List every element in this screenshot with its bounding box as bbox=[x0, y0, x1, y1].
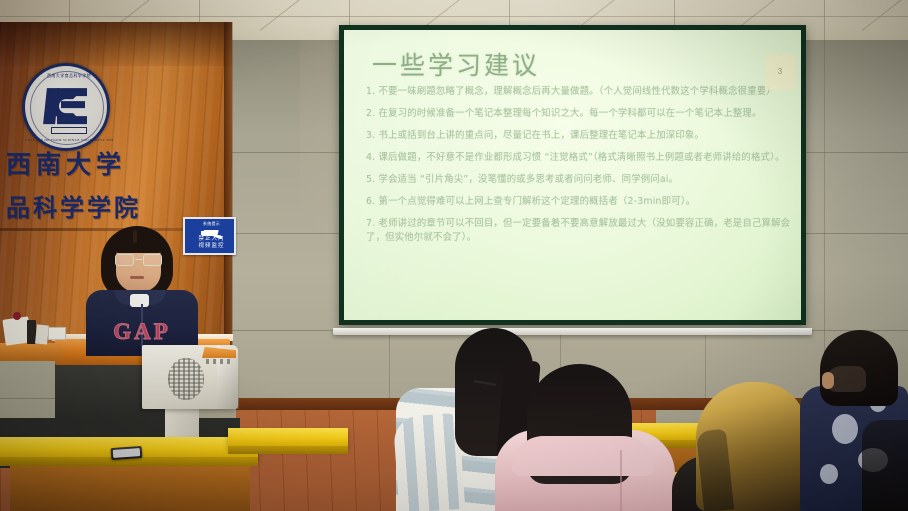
lectern-buttons[interactable] bbox=[206, 359, 232, 364]
hoodie-seam bbox=[620, 450, 622, 511]
student-ear bbox=[822, 372, 834, 389]
slide-page-marker: 3 bbox=[765, 54, 795, 90]
shoulder-shadow bbox=[862, 420, 908, 511]
presenter-mouth bbox=[130, 276, 144, 279]
pink-hood bbox=[512, 436, 654, 476]
side-item-flower bbox=[13, 312, 21, 320]
slide-body: 1. 不要一味刷题忽略了概念，理解概念后再大量做题。（个人觉间线性代数这个学科概… bbox=[366, 85, 794, 253]
student-presenter: GAP bbox=[86, 224, 198, 356]
side-item-card bbox=[35, 324, 49, 344]
slide-line: 3. 书上或括到台上讲的重点问，尽量记在书上，课后整理在笔记本上加深印象。 bbox=[366, 129, 794, 143]
speaker-grille-icon bbox=[168, 358, 204, 400]
classroom-scene: 西南大学食品科学学院 COLLEGE OF FOOD SCIENCE SOUTH… bbox=[0, 0, 908, 511]
hoodie-brand-text: GAP bbox=[86, 319, 198, 345]
lectern-body[interactable] bbox=[142, 345, 238, 409]
slide-title: 一些学习建议 bbox=[372, 46, 540, 82]
university-name-text: 西南大学 bbox=[6, 145, 166, 181]
presenter-inner-shirt bbox=[130, 294, 149, 307]
slide-line: 6. 第一个点觉得难可以上网上查专门解析这个定理的概括者（2-3min即可）。 bbox=[366, 195, 794, 209]
side-item-box bbox=[48, 327, 66, 340]
presenter-hair-front bbox=[112, 229, 165, 253]
presenter-glasses-icon bbox=[114, 254, 163, 266]
slide-surface: 一些学习建议 1. 不要一味刷题忽略了概念，理解概念后再大量做题。（个人觉间线性… bbox=[344, 30, 801, 320]
slide-line: 1. 不要一味刷题忽略了概念，理解概念后再大量做题。（个人觉间线性代数这个学科概… bbox=[366, 85, 794, 99]
phone-screen bbox=[113, 448, 140, 458]
university-emblem-icon: 西南大学食品科学学院 COLLEGE OF FOOD SCIENCE SOUTH… bbox=[22, 63, 110, 151]
projection-screen[interactable]: 一些学习建议 1. 不要一味刷题忽略了概念，理解概念后再大量做题。（个人觉间线性… bbox=[339, 25, 806, 325]
emblem-bottom-text: COLLEGE OF FOOD SCIENCE SOUTHWEST UNIVER… bbox=[25, 138, 113, 142]
presenter-hair-part bbox=[133, 230, 137, 243]
desk-row-mid-left bbox=[228, 428, 348, 448]
slide-line: 7. 老师讲过的章节可以不回目，但一定要备着不要高意解放最过大（没如要容正确，老… bbox=[366, 217, 794, 244]
screen-bottom-bar bbox=[333, 328, 812, 335]
lectern-top-cap bbox=[202, 347, 236, 358]
emblem-top-text: 西南大学食品科学学院 bbox=[25, 73, 113, 79]
slide-line: 2. 在复习的时候准备一个笔记本整理每个知识之大。每一个学科都可以在一个笔记本上… bbox=[366, 107, 794, 121]
emblem-mark-icon bbox=[43, 84, 89, 128]
slide-line: 4. 课后做题，不好意不是作业都形成习惯 “注觉格式”（格式清晰照书上例题或者老… bbox=[366, 151, 794, 165]
college-name-text: 品科学学院 bbox=[6, 188, 166, 223]
slide-line: 5. 学会适当 “引片角尖”，没笔懂的或多思考或者问问老师、同学例问ai。 bbox=[366, 173, 794, 187]
smartphone-on-desk[interactable] bbox=[111, 446, 143, 460]
side-table bbox=[0, 343, 62, 361]
